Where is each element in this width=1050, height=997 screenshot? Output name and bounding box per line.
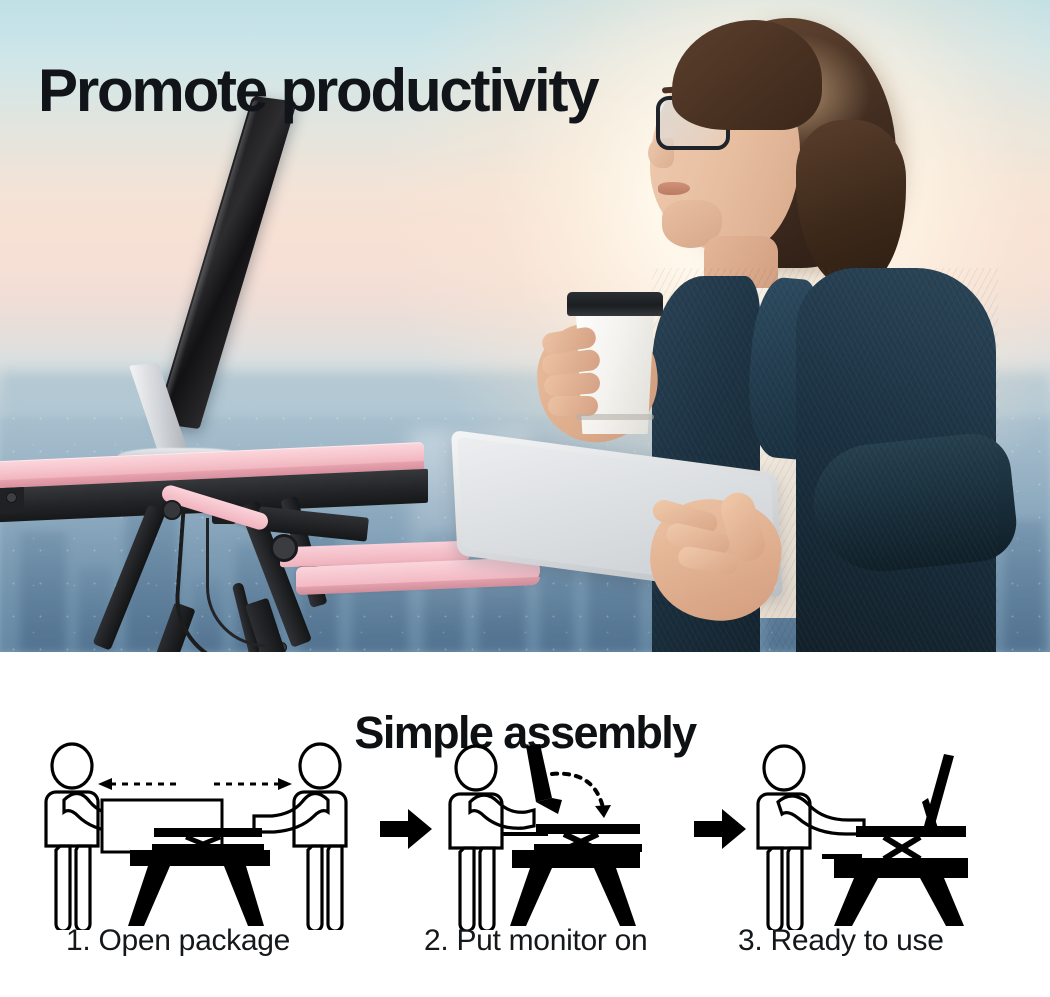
assembly-step-2 bbox=[440, 740, 690, 930]
step-arrow-2 bbox=[692, 806, 750, 852]
right-arrow-icon bbox=[378, 806, 436, 852]
assembly-panel: Simple assembly bbox=[0, 652, 1050, 997]
hero-photo-panel: Promote productivity bbox=[0, 0, 1050, 652]
product-feature-panel: Promote productivity Simple assembly bbox=[0, 0, 1050, 997]
person-figure bbox=[600, 0, 1050, 652]
scissor-arm bbox=[93, 504, 167, 650]
assembly-steps bbox=[0, 740, 1050, 940]
step-arrow-1 bbox=[378, 806, 436, 852]
put-monitor-on-icon bbox=[440, 740, 690, 930]
finger bbox=[543, 372, 600, 397]
monitor-screen bbox=[155, 96, 297, 429]
coffee-cup-lid bbox=[567, 292, 663, 316]
scissor-pivot-hub bbox=[270, 534, 298, 562]
coffee-cup-seam bbox=[576, 414, 654, 420]
assembly-captions: 1. Open package 2. Put monitor on 3. Rea… bbox=[0, 924, 1050, 974]
finger bbox=[548, 396, 598, 416]
step-caption-1: 1. Open package bbox=[66, 924, 290, 958]
right-arrow-icon bbox=[692, 806, 750, 852]
step-caption-3: 3. Ready to use bbox=[738, 924, 944, 958]
ready-to-use-icon bbox=[748, 740, 1018, 930]
assembly-step-1 bbox=[36, 740, 356, 930]
riser-bolt bbox=[6, 492, 17, 503]
open-package-icon bbox=[36, 740, 356, 930]
assembly-step-3 bbox=[748, 740, 1018, 930]
riser-support-arm bbox=[257, 506, 369, 541]
page-title: Promote productivity bbox=[38, 56, 597, 125]
monitor bbox=[96, 96, 336, 476]
handle-pivot bbox=[162, 500, 182, 520]
step-caption-2: 2. Put monitor on bbox=[424, 924, 647, 958]
hair-fringe bbox=[672, 20, 822, 130]
